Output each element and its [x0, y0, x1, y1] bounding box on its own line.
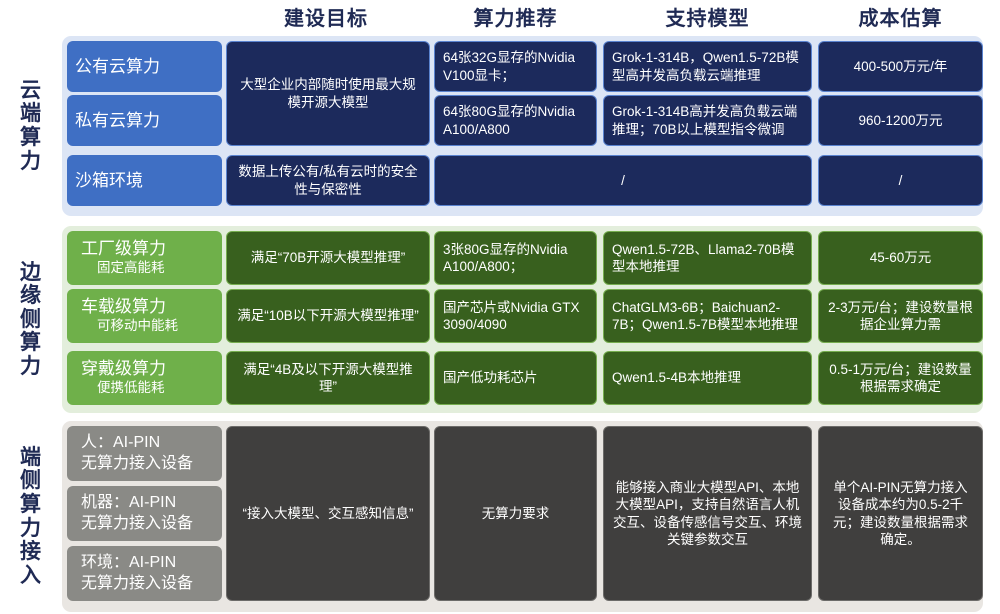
cell-edge-models-factory[interactable]: Qwen1.5-72B、Llama2-70B模型本地推理 — [603, 231, 812, 285]
cell-cloud-goal-merged[interactable]: 大型企业内部随时使用最大规模开源大模型 — [226, 41, 430, 146]
row-label-machine-aipin[interactable]: 机器：AI-PIN 无算力接入设备 — [67, 486, 222, 541]
cell-device-cost-merged[interactable]: 单个AI-PIN无算力接入设备成本约为0.5-2千元；建设数量根据需求确定。 — [818, 426, 983, 601]
side-label-device-char-4: 接 — [20, 540, 42, 564]
cell-cloud-cost-public[interactable]: 400-500万元/年 — [818, 41, 983, 92]
cell-edge-goal-vehicle[interactable]: 满足“10B以下开源大模型推理” — [226, 289, 430, 343]
side-label-cloud: 云 端 算 力 — [0, 36, 62, 216]
cell-cloud-models-public[interactable]: Grok-1-314B，Qwen1.5-72B模型高并发高负载云端推理 — [603, 41, 812, 92]
row-label-human-aipin-title: 人：AI-PIN — [81, 433, 160, 454]
side-label-cloud-char-2: 算 — [20, 126, 42, 150]
column-header-cost: 成本估算 — [818, 2, 983, 31]
row-label-sandbox[interactable]: 沙箱环境 — [67, 155, 222, 206]
cell-edge-models-vehicle[interactable]: ChatGLM3-6B；Baichuan2-7B；Qwen1.5-7B模型本地推… — [603, 289, 812, 343]
side-label-device-char-0: 端 — [20, 446, 42, 470]
row-label-environment-aipin-title: 环境：AI-PIN — [81, 553, 176, 574]
section-cloud: 公有云算力 私有云算力 沙箱环境 大型企业内部随时使用最大规模开源大模型 数据上… — [62, 36, 983, 216]
column-headers: 建设目标 算力推荐 支持模型 成本估算 — [0, 0, 1000, 34]
side-label-edge-char-1: 缘 — [20, 284, 42, 308]
row-label-factory-grade-title: 工厂级算力 — [81, 239, 166, 259]
diagram-canvas: 建设目标 算力推荐 支持模型 成本估算 云 端 算 力 公有云算力 私有云算力 … — [0, 0, 1000, 614]
side-label-device-char-5: 入 — [20, 564, 42, 588]
row-label-public-cloud[interactable]: 公有云算力 — [67, 41, 222, 92]
row-label-private-cloud[interactable]: 私有云算力 — [67, 95, 222, 146]
column-header-models: 支持模型 — [603, 2, 812, 31]
row-label-environment-aipin[interactable]: 环境：AI-PIN 无算力接入设备 — [67, 546, 222, 601]
cell-edge-compute-wearable[interactable]: 国产低功耗芯片 — [434, 351, 597, 405]
cell-edge-compute-vehicle[interactable]: 国产芯片或Nvidia GTX 3090/4090 — [434, 289, 597, 343]
section-device: 人：AI-PIN 无算力接入设备 机器：AI-PIN 无算力接入设备 环境：AI… — [62, 421, 983, 612]
cell-cloud-models-private[interactable]: Grok-1-314B高并发高负载云端推理；70B以上模型指令微调 — [603, 95, 812, 146]
cell-edge-models-wearable[interactable]: Qwen1.5-4B本地推理 — [603, 351, 812, 405]
row-label-environment-aipin-sub: 无算力接入设备 — [81, 574, 193, 595]
cell-cloud-compute-private[interactable]: 64张80G显存的Nvidia A100/A800 — [434, 95, 597, 146]
column-header-compute: 算力推荐 — [434, 2, 597, 31]
section-edge: 工厂级算力 固定高能耗 车载级算力 可移动中能耗 穿戴级算力 便携低能耗 满足“… — [62, 226, 983, 413]
cell-device-models-merged[interactable]: 能够接入商业大模型API、本地大模型API，支持自然语言人机交互、设备传感信号交… — [603, 426, 812, 601]
row-label-machine-aipin-sub: 无算力接入设备 — [81, 514, 193, 535]
row-label-vehicle-grade[interactable]: 车载级算力 可移动中能耗 — [67, 289, 222, 343]
side-label-edge: 边 缘 侧 算 力 — [0, 226, 62, 413]
side-label-device: 端 侧 算 力 接 入 — [0, 421, 62, 612]
cell-cloud-cost-sandbox[interactable]: / — [818, 155, 983, 206]
row-label-factory-grade-sub: 固定高能耗 — [81, 260, 165, 277]
cell-cloud-compute-public[interactable]: 64张32G显存的Nvidia V100显卡； — [434, 41, 597, 92]
row-label-wearable-grade-sub: 便携低能耗 — [81, 380, 165, 397]
side-label-cloud-char-0: 云 — [20, 79, 42, 103]
side-label-edge-char-4: 力 — [20, 355, 42, 379]
cell-cloud-sandbox-slash[interactable]: / — [434, 155, 812, 206]
side-label-device-char-3: 力 — [20, 517, 42, 541]
row-label-human-aipin-sub: 无算力接入设备 — [81, 454, 193, 475]
cell-device-compute-merged[interactable]: 无算力要求 — [434, 426, 597, 601]
cell-cloud-goal-sandbox[interactable]: 数据上传公有/私有云时的安全性与保密性 — [226, 155, 430, 206]
cell-edge-cost-factory[interactable]: 45-60万元 — [818, 231, 983, 285]
row-label-vehicle-grade-title: 车载级算力 — [81, 297, 166, 317]
side-label-cloud-char-1: 端 — [20, 102, 42, 126]
side-label-cloud-char-3: 力 — [20, 150, 42, 174]
cell-edge-compute-factory[interactable]: 3张80G显存的Nvidia A100/A800； — [434, 231, 597, 285]
row-label-human-aipin[interactable]: 人：AI-PIN 无算力接入设备 — [67, 426, 222, 481]
cell-cloud-cost-private[interactable]: 960-1200万元 — [818, 95, 983, 146]
side-label-edge-char-0: 边 — [20, 261, 42, 285]
side-label-device-char-2: 算 — [20, 493, 42, 517]
row-label-wearable-grade[interactable]: 穿戴级算力 便携低能耗 — [67, 351, 222, 405]
row-label-factory-grade[interactable]: 工厂级算力 固定高能耗 — [67, 231, 222, 285]
cell-edge-cost-vehicle[interactable]: 2-3万元/台；建设数量根据企业算力需 — [818, 289, 983, 343]
column-header-goal: 建设目标 — [224, 2, 428, 31]
cell-edge-goal-wearable[interactable]: 满足“4B及以下开源大模型推理” — [226, 351, 430, 405]
cell-device-goal-merged[interactable]: “接入大模型、交互感知信息” — [226, 426, 430, 601]
side-label-edge-char-2: 侧 — [20, 308, 42, 332]
row-label-wearable-grade-title: 穿戴级算力 — [81, 359, 166, 379]
side-label-edge-char-3: 算 — [20, 331, 42, 355]
cell-edge-cost-wearable[interactable]: 0.5-1万元/台；建设数量根据需求确定 — [818, 351, 983, 405]
side-label-device-char-1: 侧 — [20, 469, 42, 493]
row-label-machine-aipin-title: 机器：AI-PIN — [81, 493, 176, 514]
cell-edge-goal-factory[interactable]: 满足“70B开源大模型推理” — [226, 231, 430, 285]
row-label-vehicle-grade-sub: 可移动中能耗 — [81, 318, 178, 335]
